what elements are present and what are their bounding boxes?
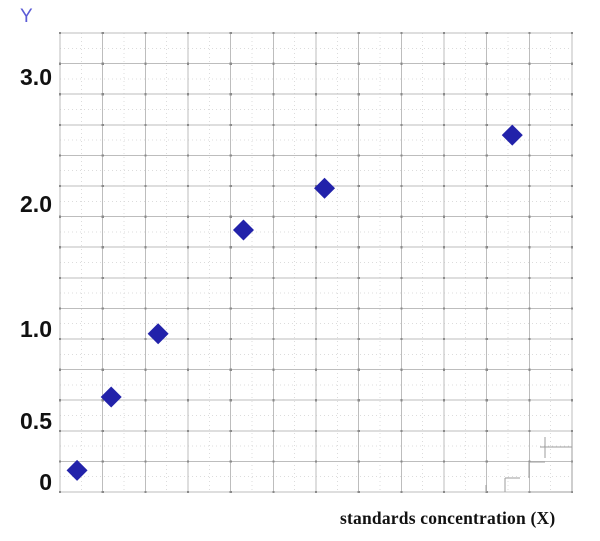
grid-node xyxy=(187,93,189,95)
grid-node xyxy=(571,246,573,248)
grid-node xyxy=(230,216,232,218)
grid-node xyxy=(443,63,445,65)
grid-node xyxy=(230,124,232,126)
grid-node xyxy=(315,32,317,34)
grid-node xyxy=(59,277,61,279)
grid-node xyxy=(528,216,530,218)
grid-node xyxy=(571,216,573,218)
grid-node xyxy=(528,32,530,34)
grid-node xyxy=(272,430,274,432)
grid-node xyxy=(486,93,488,95)
grid-node xyxy=(102,338,104,340)
grid-node xyxy=(315,307,317,309)
grid-node xyxy=(358,93,360,95)
grid-node xyxy=(486,277,488,279)
grid-node xyxy=(571,277,573,279)
grid-node xyxy=(358,63,360,65)
grid-node xyxy=(102,185,104,187)
data-point-marker xyxy=(101,386,122,407)
grid-node xyxy=(443,430,445,432)
grid-node xyxy=(144,307,146,309)
grid-node xyxy=(144,430,146,432)
grid-node xyxy=(315,124,317,126)
grid-node xyxy=(528,369,530,371)
grid-node xyxy=(443,246,445,248)
data-point-marker xyxy=(148,323,169,344)
grid-node xyxy=(272,32,274,34)
grid-node xyxy=(443,307,445,309)
grid-node xyxy=(59,491,61,493)
grid-node xyxy=(59,399,61,401)
grid-node xyxy=(59,307,61,309)
grid-node xyxy=(272,338,274,340)
grid-node xyxy=(443,32,445,34)
data-point-series xyxy=(67,125,523,481)
grid-node xyxy=(528,399,530,401)
grid-node xyxy=(230,369,232,371)
grid-node xyxy=(486,63,488,65)
grid-node xyxy=(230,277,232,279)
grid-node xyxy=(400,491,402,493)
plot-area xyxy=(0,0,600,541)
grid-node xyxy=(272,63,274,65)
grid-node xyxy=(59,430,61,432)
grid-node xyxy=(187,307,189,309)
grid-node xyxy=(486,430,488,432)
grid-node xyxy=(102,124,104,126)
grid-node xyxy=(358,460,360,462)
grid-node xyxy=(315,399,317,401)
grid-node xyxy=(443,277,445,279)
grid-node xyxy=(272,369,274,371)
grid-node xyxy=(528,185,530,187)
grid-node xyxy=(59,460,61,462)
grid-node xyxy=(443,216,445,218)
grid-node xyxy=(571,185,573,187)
grid-node xyxy=(144,460,146,462)
grid-node xyxy=(400,32,402,34)
grid-node xyxy=(400,246,402,248)
grid-node xyxy=(358,277,360,279)
grid-node xyxy=(230,307,232,309)
grid-node xyxy=(144,124,146,126)
grid-node xyxy=(230,93,232,95)
grid-node xyxy=(59,246,61,248)
grid-node xyxy=(571,93,573,95)
x-axis-title: standards concentration (X) xyxy=(340,508,555,529)
grid-node xyxy=(400,63,402,65)
grid-node xyxy=(230,246,232,248)
grid-node xyxy=(358,430,360,432)
grid-node xyxy=(187,369,189,371)
grid-node xyxy=(187,430,189,432)
grid-node xyxy=(102,491,104,493)
grid-node xyxy=(528,338,530,340)
grid-node xyxy=(144,63,146,65)
grid-node xyxy=(528,277,530,279)
grid-node xyxy=(358,369,360,371)
grid-node xyxy=(102,154,104,156)
data-point-marker xyxy=(67,460,88,481)
grid-node xyxy=(59,124,61,126)
grid-node xyxy=(443,124,445,126)
grid-node xyxy=(272,154,274,156)
grid-node xyxy=(187,32,189,34)
grid-node xyxy=(400,430,402,432)
grid-node xyxy=(358,246,360,248)
grid-node xyxy=(187,63,189,65)
grid-node xyxy=(144,369,146,371)
grid-node xyxy=(358,216,360,218)
grid-node xyxy=(144,491,146,493)
grid-node xyxy=(59,32,61,34)
grid-node xyxy=(144,93,146,95)
grid-node xyxy=(443,460,445,462)
grid-node xyxy=(571,154,573,156)
grid-node xyxy=(486,216,488,218)
grid-node xyxy=(528,124,530,126)
grid-node xyxy=(571,63,573,65)
grid-node xyxy=(230,460,232,462)
grid-node xyxy=(102,246,104,248)
grid-node xyxy=(272,277,274,279)
grid-node xyxy=(187,491,189,493)
grid-node xyxy=(102,216,104,218)
grid-node xyxy=(59,185,61,187)
grid-node xyxy=(272,460,274,462)
grid-node xyxy=(400,216,402,218)
grid-node xyxy=(187,460,189,462)
grid-node xyxy=(187,277,189,279)
grid-node xyxy=(144,277,146,279)
grid-node xyxy=(358,307,360,309)
grid-node xyxy=(358,491,360,493)
grid-node xyxy=(486,124,488,126)
grid-node xyxy=(230,430,232,432)
grid-node xyxy=(443,491,445,493)
grid-node xyxy=(144,154,146,156)
grid-node xyxy=(486,338,488,340)
grid-node xyxy=(443,185,445,187)
grid-node xyxy=(315,338,317,340)
grid-node xyxy=(358,185,360,187)
grid-node xyxy=(443,369,445,371)
grid-node xyxy=(571,32,573,34)
grid-node xyxy=(315,154,317,156)
grid-node xyxy=(443,399,445,401)
grid-node xyxy=(315,246,317,248)
data-point-marker xyxy=(502,125,523,146)
grid-node xyxy=(358,124,360,126)
grid-node xyxy=(144,399,146,401)
grid-node xyxy=(230,154,232,156)
grid-node xyxy=(443,154,445,156)
grid-node xyxy=(528,93,530,95)
grid-node xyxy=(102,277,104,279)
scatter-chart-figure: Y 3.0 2.0 1.0 0.5 0 xyxy=(0,0,600,541)
grid-node xyxy=(486,32,488,34)
grid-node xyxy=(187,216,189,218)
grid-node xyxy=(187,154,189,156)
grid-node xyxy=(486,154,488,156)
grid-node xyxy=(187,124,189,126)
grid-node xyxy=(102,430,104,432)
grid-node xyxy=(315,430,317,432)
grid-node xyxy=(144,216,146,218)
grid-node xyxy=(358,154,360,156)
grid-node xyxy=(358,338,360,340)
grid-node xyxy=(571,124,573,126)
grid-node xyxy=(528,63,530,65)
grid-node xyxy=(400,338,402,340)
grid-node xyxy=(59,369,61,371)
grid-node xyxy=(102,460,104,462)
grid-node xyxy=(571,338,573,340)
grid-node xyxy=(400,369,402,371)
grid-node xyxy=(230,63,232,65)
grid-node xyxy=(528,154,530,156)
grid-node xyxy=(272,399,274,401)
grid-node xyxy=(400,399,402,401)
grid-node xyxy=(187,246,189,248)
grid-node xyxy=(59,216,61,218)
grid-node xyxy=(571,369,573,371)
grid-node xyxy=(400,460,402,462)
grid-node xyxy=(528,246,530,248)
grid-node xyxy=(102,63,104,65)
grid-node xyxy=(272,491,274,493)
grid-node xyxy=(315,460,317,462)
grid-node xyxy=(486,460,488,462)
grid-node xyxy=(187,338,189,340)
grid-node xyxy=(400,93,402,95)
grid-node xyxy=(59,154,61,156)
grid-node xyxy=(272,185,274,187)
grid-node xyxy=(230,399,232,401)
grid-node xyxy=(230,491,232,493)
grid-node xyxy=(571,307,573,309)
grid-node xyxy=(571,430,573,432)
grid-node xyxy=(187,399,189,401)
grid-node xyxy=(571,399,573,401)
grid-node xyxy=(315,369,317,371)
grid-node xyxy=(59,338,61,340)
grid-node xyxy=(230,32,232,34)
grid-node xyxy=(315,277,317,279)
grid-node xyxy=(315,491,317,493)
grid-node xyxy=(230,338,232,340)
grid-node xyxy=(230,185,232,187)
grid-node xyxy=(400,154,402,156)
grid-node xyxy=(315,93,317,95)
grid-node xyxy=(59,63,61,65)
grid-node xyxy=(528,430,530,432)
grid-node xyxy=(400,277,402,279)
grid-node xyxy=(486,369,488,371)
grid-node xyxy=(486,185,488,187)
grid-node xyxy=(400,185,402,187)
grid-node xyxy=(443,338,445,340)
grid-node xyxy=(358,32,360,34)
grid-node xyxy=(272,216,274,218)
data-point-marker xyxy=(233,220,254,241)
grid-node xyxy=(102,369,104,371)
grid-node xyxy=(486,307,488,309)
grid-node xyxy=(272,246,274,248)
grid-node xyxy=(358,399,360,401)
grid-node xyxy=(486,246,488,248)
grid-node xyxy=(144,185,146,187)
grid-node xyxy=(443,93,445,95)
grid-node xyxy=(272,93,274,95)
grid-node xyxy=(187,185,189,187)
grid-node xyxy=(315,63,317,65)
grid-node xyxy=(272,307,274,309)
grid-node xyxy=(400,124,402,126)
grid-node xyxy=(102,32,104,34)
grid-node xyxy=(144,32,146,34)
grid-node xyxy=(486,399,488,401)
grid-node xyxy=(59,93,61,95)
grid-node xyxy=(102,93,104,95)
grid-node xyxy=(528,307,530,309)
grid-node xyxy=(400,307,402,309)
data-point-marker xyxy=(314,178,335,199)
grid-node xyxy=(144,338,146,340)
grid-node xyxy=(272,124,274,126)
grid-node xyxy=(102,307,104,309)
grid-node xyxy=(315,216,317,218)
grid-node xyxy=(144,246,146,248)
